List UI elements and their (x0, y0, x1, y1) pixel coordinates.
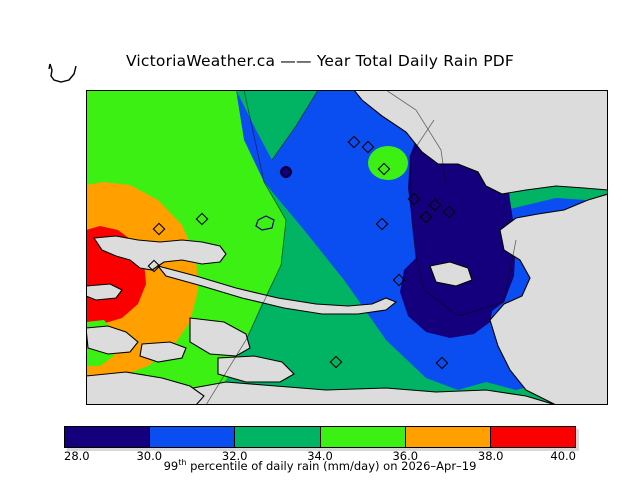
contour-map-panel (86, 90, 608, 405)
colorbar (64, 426, 576, 448)
region-34-36-north-island (368, 146, 408, 180)
colorbar-segment-30-32 (149, 427, 234, 447)
caption-prefix: 99 (164, 459, 179, 473)
colorbar-caption: 99th percentile of daily rain (mm/day) o… (0, 459, 640, 473)
caption-rest: percentile of daily rain (mm/day) on 202… (186, 459, 476, 473)
colorbar-segment-36-38 (405, 427, 490, 447)
colorbar-segment-34-36 (320, 427, 405, 447)
weather-map-figure: VictoriaWeather.ca —— Year Total Daily R… (0, 0, 640, 480)
colorbar-segment-28-30 (65, 427, 149, 447)
contour-map (86, 90, 608, 405)
colorbar-segment-38-40 (490, 427, 575, 447)
colorbar-segment-32-34 (234, 427, 319, 447)
colorbar-bands (64, 426, 576, 448)
region-28-30-central-dot (280, 166, 292, 178)
